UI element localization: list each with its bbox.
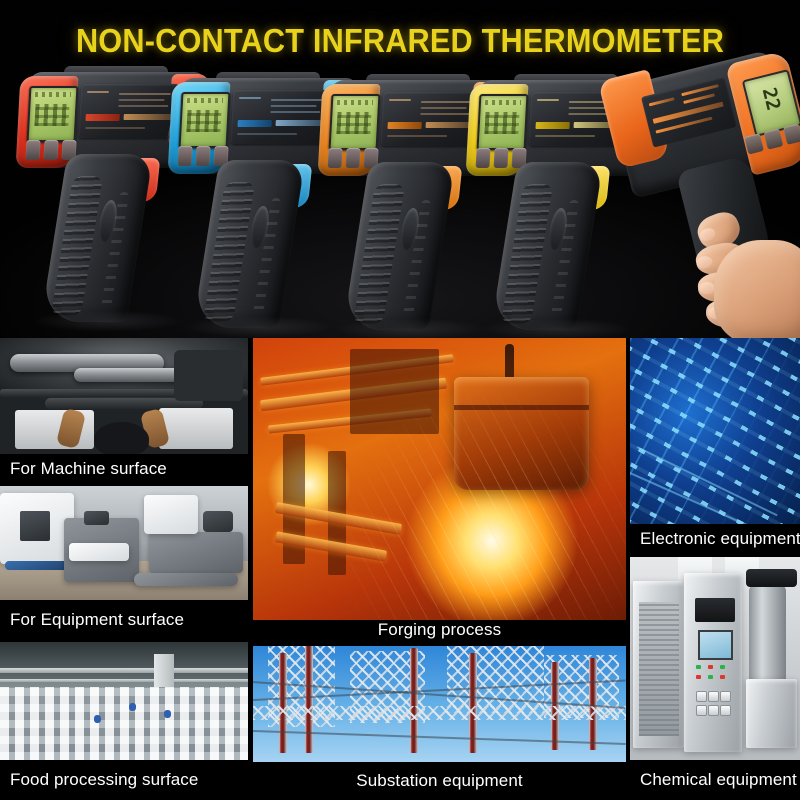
hero-banner: NON-CONTACT INFRARED THERMOMETER <box>0 0 800 338</box>
app-cell-machine-surface: For Machine surface <box>0 338 248 484</box>
photo-power-substation <box>253 646 626 762</box>
caption-equipment-surface: For Equipment surface <box>0 600 248 640</box>
photo-molten-metal-ladle <box>253 338 626 620</box>
handheld-thermometer-in-hand: 22 <box>612 58 800 338</box>
photo-cnc-machines <box>0 486 248 600</box>
product-shadow <box>482 318 632 338</box>
caption-electronic: Electronic equipment <box>630 524 800 554</box>
product-shadow <box>32 310 182 332</box>
page-title: NON-CONTACT INFRARED THERMOMETER <box>28 22 772 60</box>
product-lcd-display <box>477 94 529 150</box>
app-cell-forging-process: Forging process <box>253 338 626 640</box>
human-hand <box>696 210 800 338</box>
product-label-plate <box>231 90 332 144</box>
caption-chemical: Chemical equipment <box>630 760 800 800</box>
app-cell-substation: Substation equipment <box>253 646 626 800</box>
caption-forging-process: Forging process <box>253 620 626 640</box>
product-label-plate <box>381 92 482 146</box>
caption-food-processing: Food processing surface <box>0 760 248 800</box>
product-lcd-display <box>329 94 381 150</box>
application-photo-grid: For Machine surface <box>0 338 800 800</box>
photo-food-factory-workers <box>0 642 248 760</box>
photo-chemical-plant-cabinet <box>630 557 800 760</box>
app-cell-equipment-surface: For Equipment surface <box>0 486 248 640</box>
product-lcd-display <box>27 86 79 142</box>
app-cell-chemical: Chemical equipment <box>630 557 800 800</box>
photo-circuit-board <box>630 338 800 524</box>
photo-car-undercarriage <box>0 338 248 454</box>
product-lcd-display <box>179 92 231 148</box>
palm <box>714 240 800 338</box>
product-marketing-image: NON-CONTACT INFRARED THERMOMETER <box>0 0 800 800</box>
caption-substation: Substation equipment <box>253 762 626 800</box>
product-shadow <box>334 318 484 338</box>
handheld-temperature-value: 22 <box>755 75 787 123</box>
app-cell-food-processing: Food processing surface <box>0 642 248 800</box>
app-cell-electronic: Electronic equipment <box>630 338 800 554</box>
product-label-plate <box>79 84 180 138</box>
product-shadow <box>184 316 334 338</box>
caption-machine-surface: For Machine surface <box>0 454 248 484</box>
